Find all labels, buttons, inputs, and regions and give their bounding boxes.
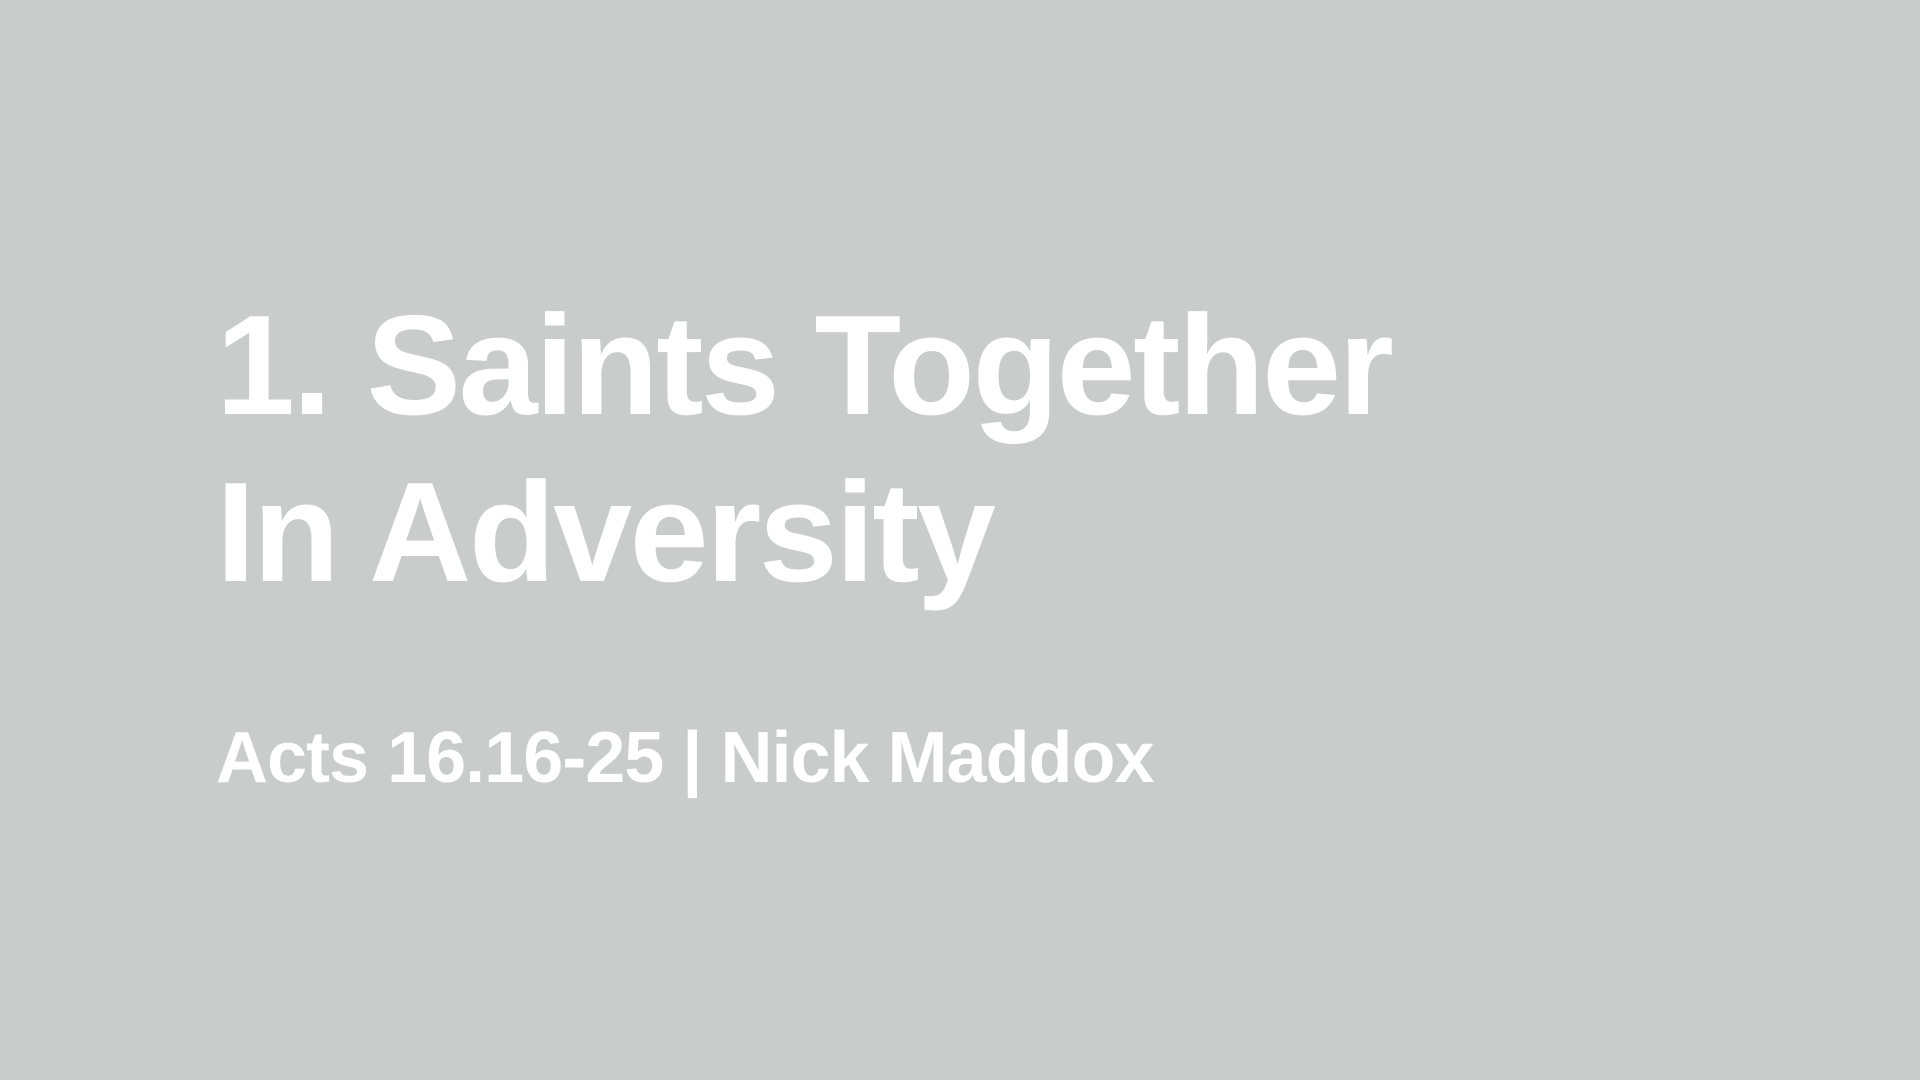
slide-subtitle: Acts 16.16-25 | Nick Maddox bbox=[216, 718, 1154, 798]
title-slide: 1. Saints Together In Adversity Acts 16.… bbox=[0, 0, 1920, 1080]
title-block: 1. Saints Together In Adversity bbox=[216, 282, 1446, 616]
slide-content-block: 1. Saints Together In Adversity Acts 16.… bbox=[216, 0, 1536, 1080]
slide-title: 1. Saints Together In Adversity bbox=[216, 282, 1446, 616]
